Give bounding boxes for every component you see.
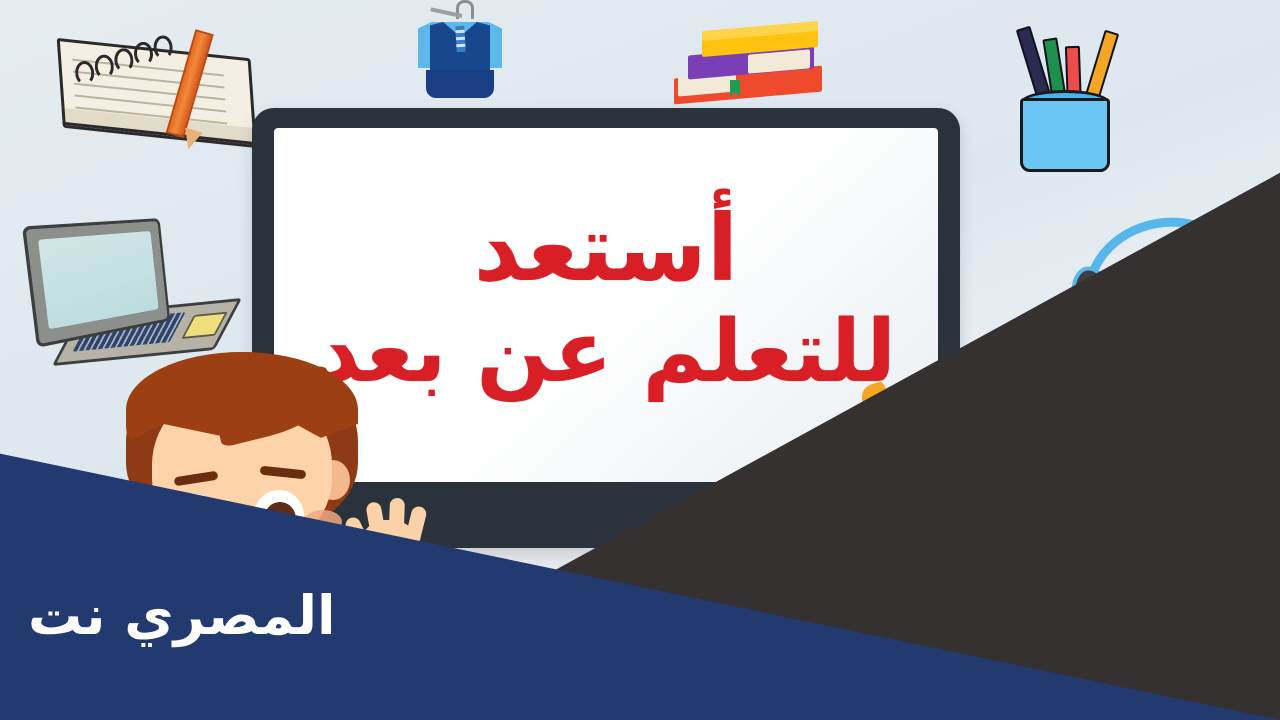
uniform-skirt [426,70,494,98]
cup-body [1020,98,1110,172]
girl-teeth [944,556,1006,574]
site-watermark-label: المصري نت [28,584,336,647]
book-stack-icon [672,24,832,102]
poster-canvas: أستعد للتعلم عن بعد [0,0,1280,720]
uniform-tie [455,26,465,52]
hair-bow-icon [862,382,920,414]
laptop-screen [38,231,159,329]
girl-cheek [896,534,938,560]
laptop-icon [28,222,218,364]
girl-waving-hand [800,482,892,574]
girl-character [800,374,1130,624]
headphones-icon [1066,216,1266,386]
girl-pupil-right [982,510,1014,542]
laptop-touchpad [181,312,228,339]
girl-nose [954,532,974,548]
bow-knot [884,391,898,405]
school-uniform-icon [412,0,508,104]
monitor-power-button[interactable] [602,551,628,577]
screen-heading-line-1: أستعد [316,197,896,300]
girl-eye-glint-left [907,524,916,533]
pen-cup-icon [1002,10,1122,170]
girl-collar [911,583,954,610]
girl-eye-glint-right [987,530,996,539]
notebook-icon [48,15,266,149]
girl-pupil-left [902,504,932,536]
